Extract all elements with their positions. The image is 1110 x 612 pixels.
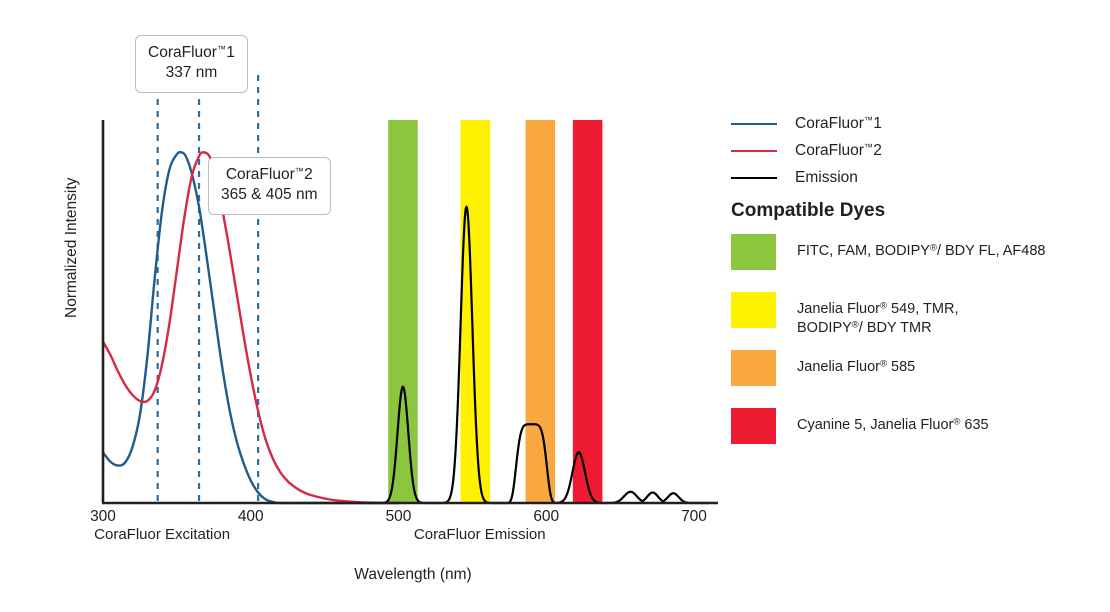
x-axis-region-label-1: CoraFluor Emission <box>414 526 546 543</box>
callout-corafluor-2-value: 365 & 405 nm <box>221 185 318 205</box>
callout-corafluor-2: CoraFluor™2 365 & 405 nm <box>208 157 331 215</box>
registered-symbol: ® <box>953 416 960 427</box>
legend-item-0: CoraFluor™1 <box>731 110 1061 137</box>
callout-corafluor-1: CoraFluor™1 337 nm <box>135 35 248 93</box>
y-axis-title: Normalized Intensity <box>63 178 81 318</box>
series-legend: CoraFluor™1CoraFluor™2Emission <box>731 110 1061 191</box>
dye-color-swatch <box>731 292 776 328</box>
dye-label-line: Cyanine 5, Janelia Fluor® 635 <box>797 416 989 435</box>
dye-band-3 <box>573 120 603 503</box>
registered-symbol: ® <box>852 320 859 331</box>
dye-item-label: Janelia Fluor® 585 <box>797 350 915 377</box>
trademark-symbol: ™ <box>864 115 873 125</box>
x-tick-300: 300 <box>90 508 116 526</box>
legend-line-swatch <box>731 177 777 179</box>
legend-item-label: Emission <box>795 169 858 187</box>
legend-item-2: Emission <box>731 164 1061 191</box>
registered-symbol: ® <box>880 300 887 311</box>
dye-label-line: BODIPY®/ BDY TMR <box>797 319 958 338</box>
trademark-symbol: ™ <box>864 142 873 152</box>
dye-item-label: Cyanine 5, Janelia Fluor® 635 <box>797 408 989 435</box>
dye-label-line: FITC, FAM, BODIPY®/ BDY FL, AF488 <box>797 242 1045 261</box>
x-axis-region-label-0: CoraFluor Excitation <box>94 526 230 543</box>
dye-band-0 <box>388 120 418 503</box>
callout-corafluor-2-title: CoraFluor™2 <box>221 165 318 185</box>
dye-color-swatch <box>731 234 776 270</box>
spectra-figure: CoraFluor™1 337 nm CoraFluor™2 365 & 405… <box>0 0 1110 612</box>
x-axis-title: Wavelength (nm) <box>354 566 471 584</box>
dye-item-3: Cyanine 5, Janelia Fluor® 635 <box>731 408 1081 466</box>
dye-item-label: Janelia Fluor® 549, TMR,BODIPY®/ BDY TMR <box>797 292 958 339</box>
compatible-dyes-list: FITC, FAM, BODIPY®/ BDY FL, AF488Janelia… <box>731 234 1081 466</box>
legend-line-swatch <box>731 123 777 125</box>
dye-label-line: Janelia Fluor® 585 <box>797 358 915 377</box>
dye-label-line: Janelia Fluor® 549, TMR, <box>797 300 958 319</box>
callout-corafluor-1-title: CoraFluor™1 <box>148 43 235 63</box>
trademark-symbol: ™ <box>217 44 226 54</box>
legend-item-label: CoraFluor™1 <box>795 115 882 133</box>
x-tick-700: 700 <box>681 508 707 526</box>
dye-item-label: FITC, FAM, BODIPY®/ BDY FL, AF488 <box>797 234 1045 261</box>
registered-symbol: ® <box>880 358 887 369</box>
registered-symbol: ® <box>930 242 937 253</box>
legend-line-swatch <box>731 150 777 152</box>
dye-band-1 <box>461 120 491 503</box>
callout-corafluor-1-value: 337 nm <box>148 63 235 83</box>
dye-item-1: Janelia Fluor® 549, TMR,BODIPY®/ BDY TMR <box>731 292 1081 350</box>
legend-item-label: CoraFluor™2 <box>795 142 882 160</box>
dye-item-0: FITC, FAM, BODIPY®/ BDY FL, AF488 <box>731 234 1081 292</box>
legend-item-1: CoraFluor™2 <box>731 137 1061 164</box>
x-tick-400: 400 <box>238 508 264 526</box>
dye-color-swatch <box>731 350 776 386</box>
x-tick-600: 600 <box>533 508 559 526</box>
x-tick-500: 500 <box>386 508 412 526</box>
dye-item-2: Janelia Fluor® 585 <box>731 350 1081 408</box>
dye-color-swatch <box>731 408 776 444</box>
compatible-dyes-heading: Compatible Dyes <box>731 200 885 222</box>
trademark-symbol: ™ <box>295 166 304 176</box>
dye-band-2 <box>526 120 556 503</box>
